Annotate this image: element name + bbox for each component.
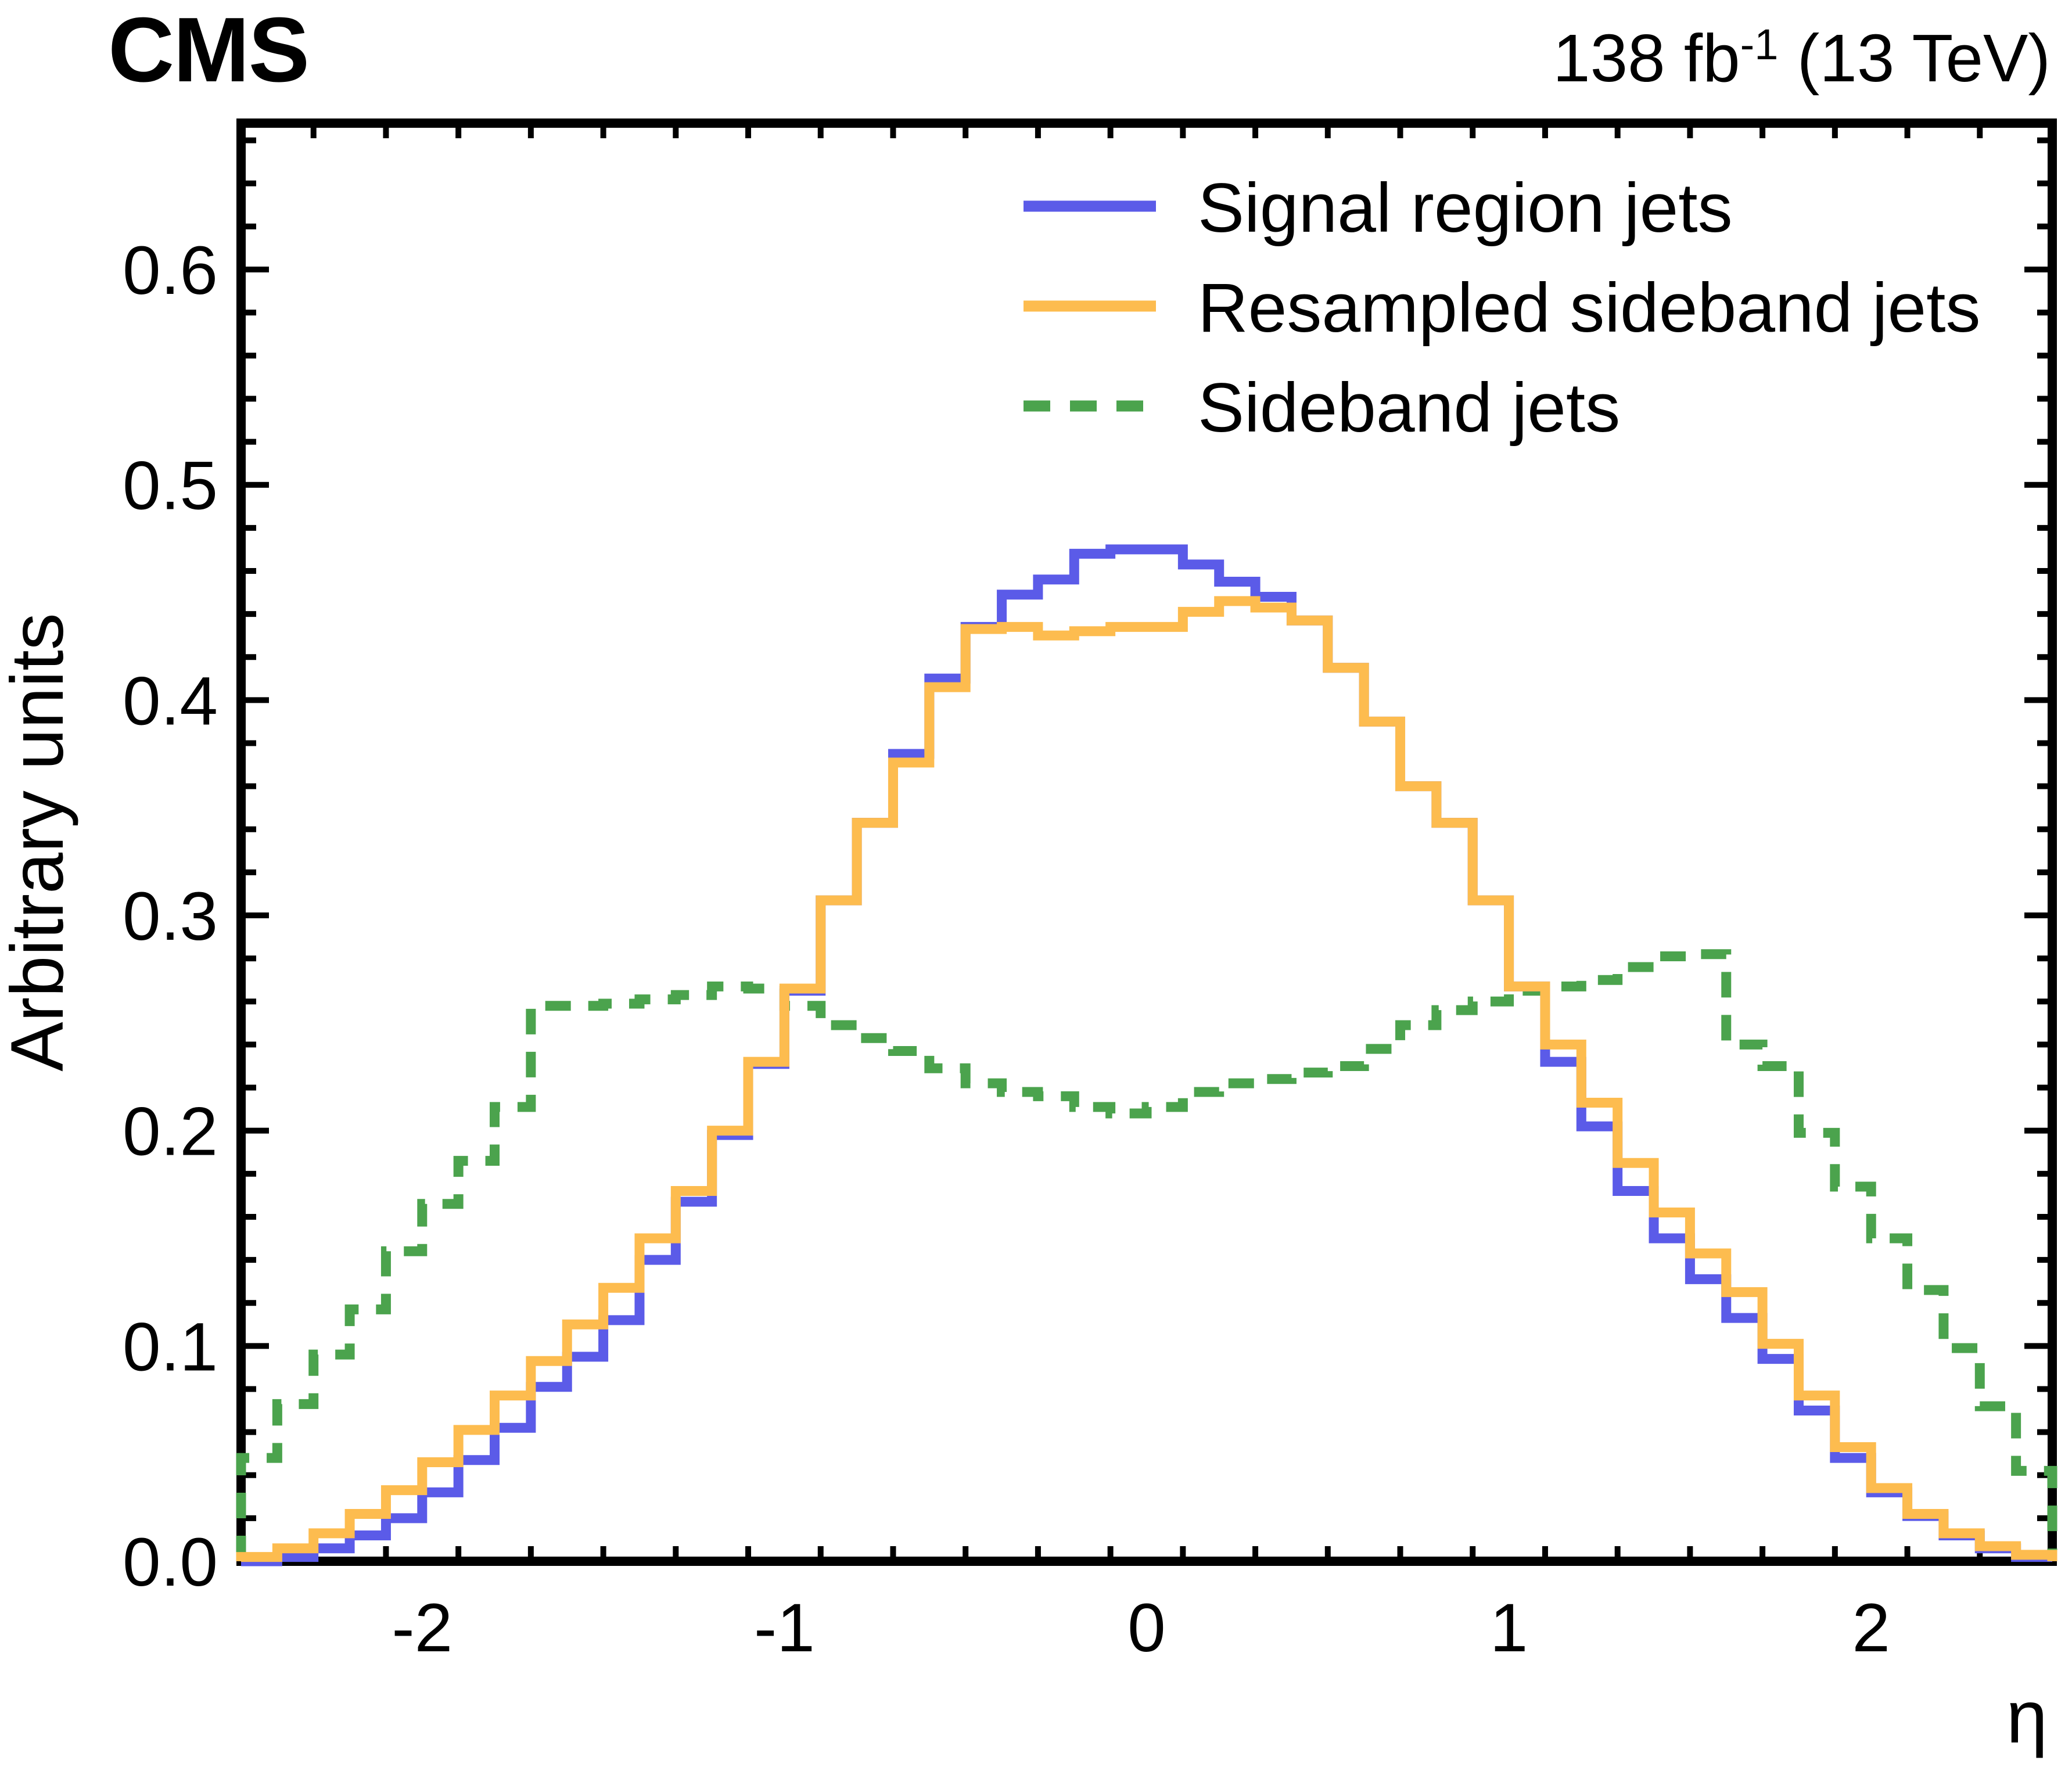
cms-physics-figure: CMS 138 fb-1 (13 TeV) -2-1012 0.00.10.20…	[0, 0, 2072, 1775]
x-tick-label: 0	[1127, 1590, 1166, 1666]
luminosity-label: 138 fb-1 (13 TeV)	[1553, 20, 2051, 96]
y-tick-label: 0.1	[123, 1309, 218, 1385]
x-axis-title: η	[2006, 1676, 2048, 1759]
x-tick-label: -2	[392, 1590, 453, 1666]
y-axis-title: Arbitrary units	[0, 613, 79, 1072]
y-tick-label: 0.6	[123, 232, 218, 309]
y-tick-label: 0.3	[123, 878, 218, 955]
y-tick-label: 0.5	[123, 448, 218, 524]
x-tick-label: 2	[1852, 1590, 1890, 1666]
legend-label-sideband-jets: Sideband jets	[1198, 369, 1620, 447]
cms-logo: CMS	[108, 0, 308, 101]
legend-label-resampled-sideband-jets: Resampled sideband jets	[1198, 269, 1980, 347]
y-tick-label: 0.2	[123, 1094, 218, 1170]
x-tick-label: 1	[1490, 1590, 1528, 1666]
figure-background	[0, 0, 2072, 1775]
plot-canvas: CMS 138 fb-1 (13 TeV) -2-1012 0.00.10.20…	[0, 0, 2072, 1775]
y-tick-label: 0.0	[123, 1524, 218, 1601]
legend-label-signal-region-jets: Signal region jets	[1198, 169, 1733, 247]
x-tick-label: -1	[754, 1590, 815, 1666]
y-tick-label: 0.4	[123, 663, 218, 739]
